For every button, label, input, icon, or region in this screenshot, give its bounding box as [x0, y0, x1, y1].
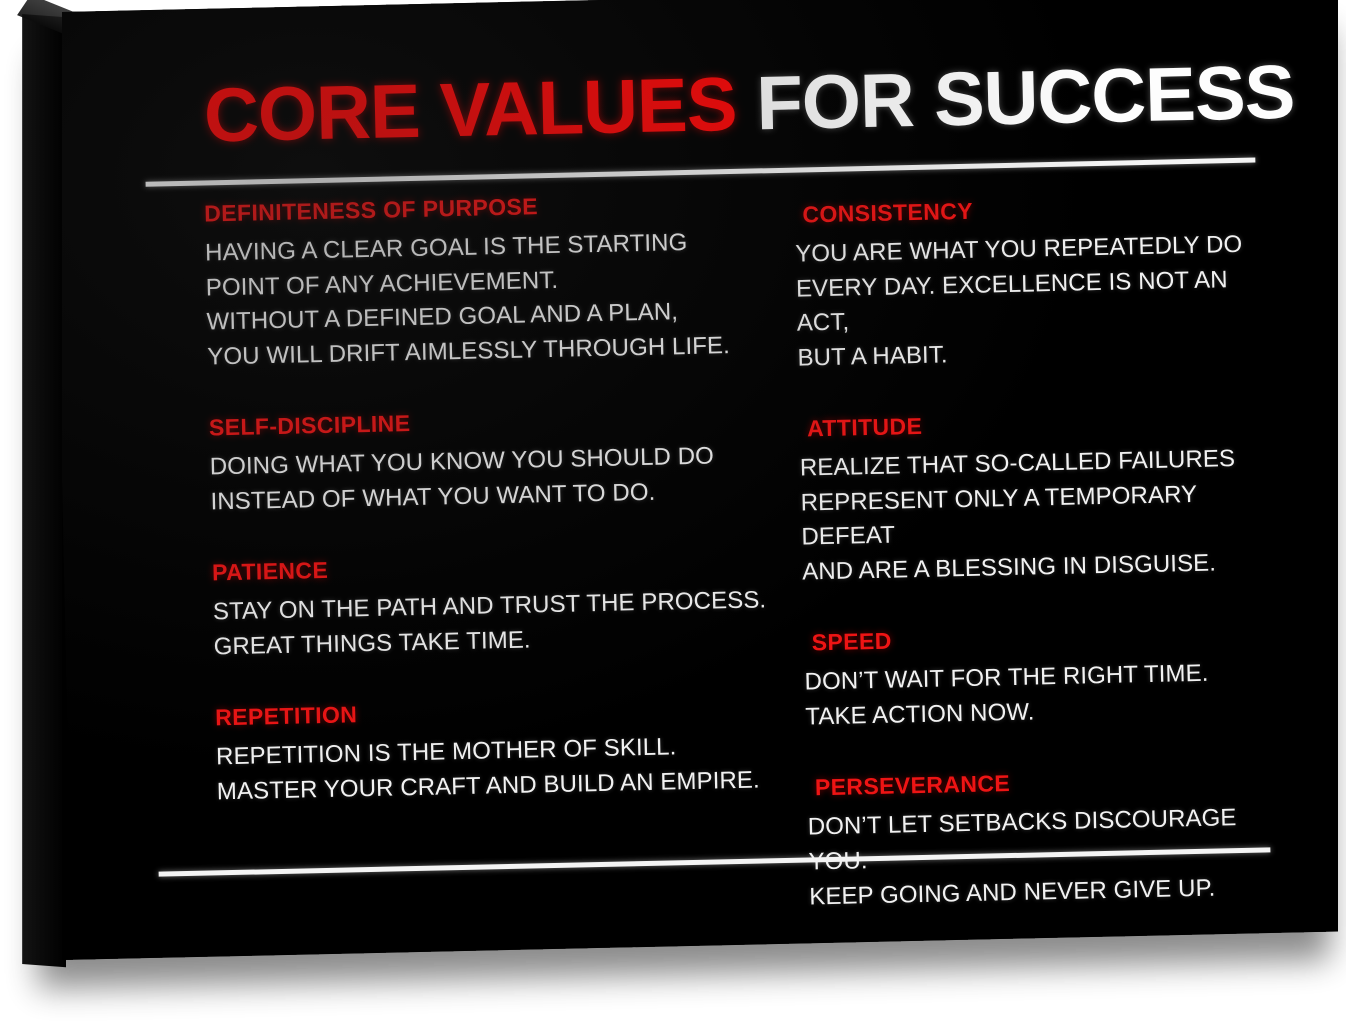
- value-block-definiteness-of-purpose: DEFINITENESS OF PURPOSE HAVING A CLEAR G…: [204, 188, 768, 374]
- values-column-left: DEFINITENESS OF PURPOSE HAVING A CLEAR G…: [204, 188, 781, 960]
- value-title: PERSEVERANCE: [815, 764, 1287, 801]
- value-block-attitude: ATTITUDE REALIZE THAT SO-CALLED FAILURES…: [799, 405, 1283, 590]
- value-block-perseverance: PERSEVERANCE DON’T LET SETBACKS DISCOURA…: [807, 764, 1290, 914]
- canvas-print-face: CORE VALUES FOR SUCCESS DEFINITENESS OF …: [62, 0, 1338, 960]
- value-block-speed: SPEED DON’T WAIT FOR THE RIGHT TIME. TAK…: [803, 619, 1285, 735]
- value-block-repetition: REPETITION REPETITION IS THE MOTHER OF S…: [215, 693, 777, 810]
- canvas-wrapped-side-edge: [22, 14, 66, 967]
- value-line: DON’T LET SETBACKS DISCOURAGE YOU.: [807, 800, 1288, 880]
- value-title: ATTITUDE: [807, 405, 1279, 442]
- value-title: DEFINITENESS OF PURPOSE: [204, 188, 764, 227]
- artwork-stage: CORE VALUES FOR SUCCESS DEFINITENESS OF …: [0, 0, 1346, 1021]
- value-title: PATIENCE: [212, 547, 772, 586]
- page-title-primary: CORE VALUES: [203, 62, 737, 159]
- value-block-consistency: CONSISTENCY YOU ARE WHAT YOU REPEATEDLY …: [794, 191, 1278, 376]
- value-line: REPRESENT ONLY A TEMPORARY DEFEAT: [800, 476, 1281, 556]
- value-title: SELF-DISCIPLINE: [209, 402, 769, 441]
- value-title: CONSISTENCY: [802, 191, 1274, 228]
- page-title: CORE VALUES FOR SUCCESS: [203, 55, 1284, 155]
- values-column-right: CONSISTENCY YOU ARE WHAT YOU REPEATEDLY …: [794, 177, 1291, 954]
- print-content: CORE VALUES FOR SUCCESS DEFINITENESS OF …: [62, 0, 1338, 960]
- values-columns: DEFINITENESS OF PURPOSE HAVING A CLEAR G…: [62, 176, 1338, 960]
- value-block-self-discipline: SELF-DISCIPLINE DOING WHAT YOU KNOW YOU …: [209, 402, 771, 519]
- value-block-patience: PATIENCE STAY ON THE PATH AND TRUST THE …: [212, 547, 774, 664]
- value-line: EVERY DAY. EXCELLENCE IS NOT AN ACT,: [796, 262, 1277, 342]
- value-title: SPEED: [811, 619, 1283, 656]
- value-title: REPETITION: [215, 693, 775, 732]
- page-title-secondary: FOR SUCCESS: [735, 50, 1295, 147]
